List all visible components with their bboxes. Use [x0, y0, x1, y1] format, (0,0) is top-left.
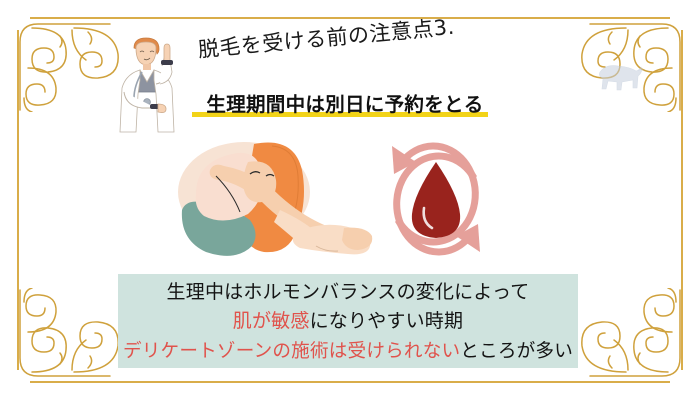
blood-drop-cycle-icon: [382, 136, 490, 262]
page-subtitle: 生理期間中は別日に予約をとる: [206, 88, 483, 119]
blood-drop: [412, 162, 460, 238]
animal-watermark: [592, 58, 648, 98]
caption-accent-text: 肌が敏感: [233, 311, 310, 332]
subtitle-wrapper: 生理期間中は別日に予約をとる: [190, 88, 500, 119]
doctor-illustration: [104, 32, 188, 136]
caption-line-1: 生理中はホルモンバランスの変化によって: [167, 278, 530, 307]
woman-curled-illustration: [176, 136, 374, 262]
corner-ornament-bottom-right: [580, 288, 698, 398]
caption-plain-text: ところが多い: [460, 340, 573, 361]
frame-line-top: [30, 17, 670, 19]
corner-ornament-top-left: [2, 2, 120, 112]
caption-line-2: 肌が敏感になりやすい時期: [233, 307, 463, 336]
slide-canvas: 脱毛を受ける前の注意点3. 生理期間中は別日に予約をとる 生理中はホルモンバラン…: [0, 0, 700, 400]
caption-box: 生理中はホルモンバランスの変化によって 肌が敏感になりやすい時期 デリケートゾー…: [118, 274, 578, 368]
frame-line-bottom: [30, 381, 670, 383]
caption-accent-text: デリケートゾーンの施術は受けられない: [123, 340, 460, 361]
caption-line-3: デリケートゾーンの施術は受けられないところが多い: [123, 336, 573, 365]
caption-plain-text: になりやすい時期: [310, 311, 464, 332]
caption-plain-text: 生理中はホルモンバランスの変化によって: [167, 282, 530, 303]
page-title-handwritten: 脱毛を受ける前の注意点3.: [197, 7, 498, 64]
corner-ornament-bottom-left: [2, 288, 120, 398]
